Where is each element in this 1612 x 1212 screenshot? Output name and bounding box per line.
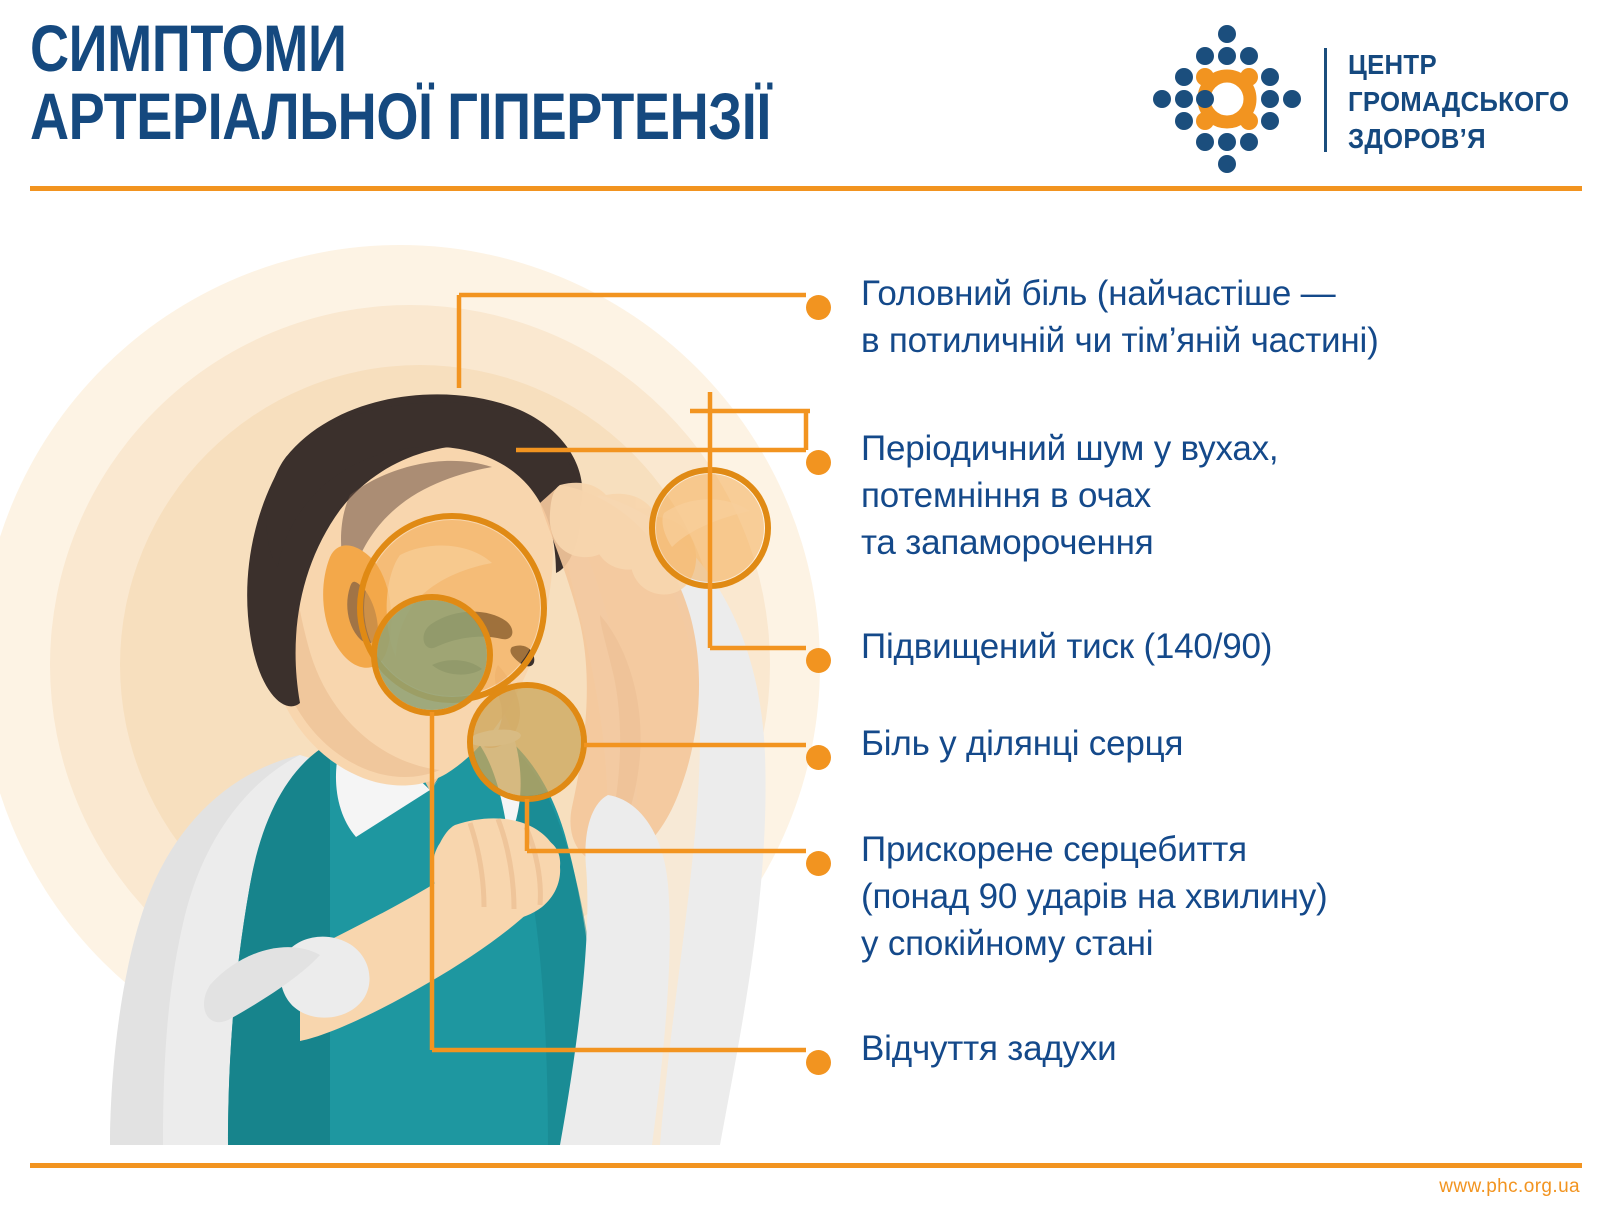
illustration-man-with-headache <box>0 195 830 1145</box>
page-title: СИМПТОМИ АРТЕРІАЛЬНОЇ ГІПЕРТЕНЗІЇ <box>30 14 932 150</box>
bullet-icon <box>806 450 831 475</box>
infographic-page: СИМПТОМИ АРТЕРІАЛЬНОЇ ГІПЕРТЕНЗІЇ <box>0 0 1612 1212</box>
bullet-icon <box>806 851 831 876</box>
bullet-icon <box>806 1050 831 1075</box>
footer-divider <box>30 1163 1582 1168</box>
symptom-label: Біль у ділянці серця <box>861 720 1601 767</box>
lens-eye <box>652 470 768 586</box>
logo-dot-mark-icon <box>1152 24 1302 174</box>
footer-url[interactable]: www.phc.org.ua <box>1439 1176 1580 1198</box>
logo-divider <box>1324 48 1327 152</box>
bullet-icon <box>806 745 831 770</box>
header-divider <box>30 186 1582 191</box>
symptom-label: Періодичний шум у вухах, потемніння в оч… <box>861 425 1601 566</box>
symptom-label: Відчуття задухи <box>861 1025 1601 1072</box>
bullet-icon <box>806 648 831 673</box>
symptom-label: Прискорене серцебиття (понад 90 ударів н… <box>861 826 1601 967</box>
bullet-icon <box>806 295 831 320</box>
symptom-label: Підвищений тиск (140/90) <box>861 623 1601 670</box>
logo-text: ЦЕНТР ГРОМАДСЬКОГО ЗДОРОВ’Я <box>1348 46 1569 157</box>
logo-phc: ЦЕНТР ГРОМАДСЬКОГО ЗДОРОВ’Я <box>1152 24 1592 174</box>
symptom-label: Головний біль (найчастіше — в потиличній… <box>861 270 1601 364</box>
symptom-list: Головний біль (найчастіше — в потиличній… <box>806 195 1612 1145</box>
lens-ear <box>360 516 544 700</box>
header: СИМПТОМИ АРТЕРІАЛЬНОЇ ГІПЕРТЕНЗІЇ <box>0 0 1612 195</box>
